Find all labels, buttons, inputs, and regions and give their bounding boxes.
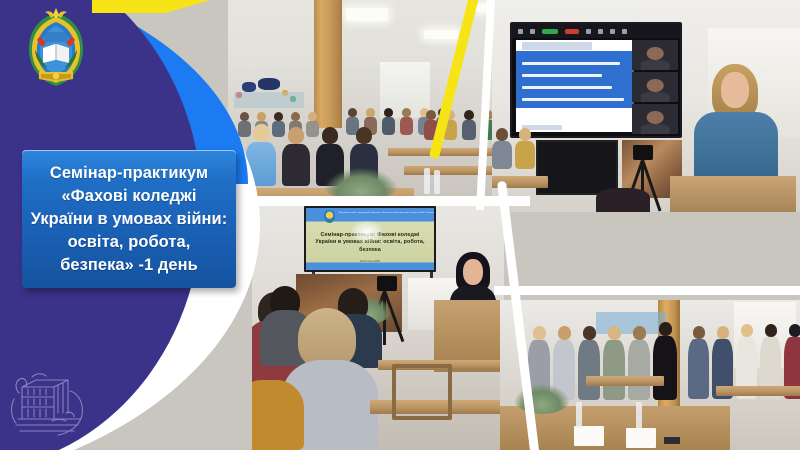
videoconference-toolbar (512, 24, 680, 38)
participant-tile (632, 40, 678, 70)
videoconference-tv (510, 22, 682, 138)
page-title: Семінар-практикум «Фахові коледжі Україн… (30, 162, 228, 277)
audience-back-head (298, 308, 356, 368)
wall-decor (258, 78, 280, 90)
photo-projector-screen-and-audience: Відокремлений структурний підрозділ «Бер… (252, 204, 504, 450)
poster-canvas: Відокремлений структурний підрозділ «Бер… (0, 0, 800, 450)
photo-divider-horizontal (494, 286, 800, 295)
audience-back-body (252, 380, 304, 450)
wall-decor (234, 92, 304, 108)
photo-speaker-with-videoconference (492, 0, 800, 212)
college-coat-of-arms-icon (23, 6, 89, 90)
slide-date: 20-21 січня 2025 (306, 260, 434, 263)
paper-sheet (626, 428, 656, 448)
podium (670, 176, 796, 212)
accent-strip-yellow (92, 0, 210, 13)
projector-screen: Відокремлений структурний підрозділ «Бер… (304, 206, 436, 272)
ceiling-lamp-icon (492, 0, 538, 13)
desk (716, 386, 800, 396)
slide-surface: Відокремлений структурний підрозділ «Бер… (306, 208, 434, 270)
ceiling-lamp-icon (424, 30, 458, 39)
participant-tile (632, 72, 678, 102)
camera-icon (377, 276, 397, 291)
ceiling-lamp-icon (492, 13, 518, 22)
camera-icon (633, 145, 653, 160)
wooden-pillar (314, 0, 342, 128)
paper-sheet (574, 426, 604, 446)
tv-slide (516, 40, 634, 132)
wall-decor (242, 82, 256, 92)
photo-standing-audience (500, 300, 800, 450)
participant-grid (632, 40, 678, 134)
lower-monitor (536, 140, 618, 195)
water-bottle (424, 168, 430, 194)
water-bottle (576, 402, 582, 428)
foreground-head (596, 188, 650, 212)
desk (586, 376, 664, 386)
water-bottle (434, 170, 440, 194)
ceiling-lamp-icon (346, 8, 388, 21)
slide-emblem-icon (324, 210, 335, 223)
phone (664, 437, 680, 444)
chair (392, 364, 452, 420)
college-building-line-art-icon (8, 363, 92, 445)
photo-divider-horizontal (230, 196, 530, 206)
water-bottle (636, 402, 642, 428)
participant-tile (632, 104, 678, 134)
slide-header-text: Відокремлений структурний підрозділ «Бер… (339, 212, 434, 214)
screen-glare (350, 220, 384, 244)
event-title-plaque: Семінар-практикум «Фахові коледжі Україн… (22, 150, 236, 288)
audience-row (492, 128, 535, 169)
